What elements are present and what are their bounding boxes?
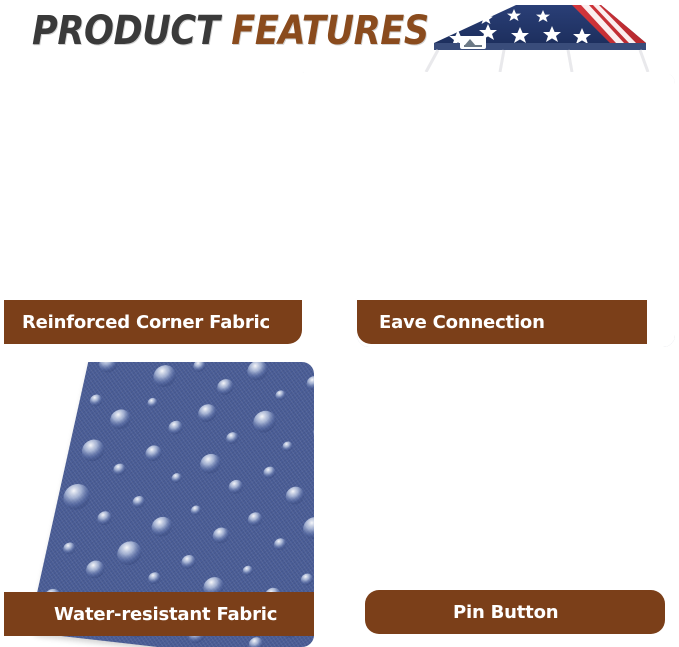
header: PRODUCT FEATURES — [0, 0, 679, 70]
feature-card-reinforced-corner-fabric[interactable]: Reinforced Corner Fabric — [4, 72, 314, 347]
pin-button-photo — [357, 362, 675, 647]
feature-card-pin-button[interactable]: Pin Button — [357, 362, 675, 647]
eave-connection-photo — [357, 72, 675, 347]
product-features-infographic: PRODUCT FEATURES — [0, 0, 679, 647]
feature-card-water-resistant-fabric[interactable]: Water-resistant Fabric — [4, 362, 314, 647]
page-title: PRODUCT FEATURES — [32, 8, 429, 54]
feature-card-eave-connection[interactable]: Eave Connection — [357, 72, 675, 347]
reinforced-corner-photo — [4, 72, 314, 347]
canopy-illustration — [396, 0, 679, 72]
feature-grid: Reinforced Corner Fabric — [0, 72, 679, 647]
water-resistant-photo — [4, 362, 314, 647]
title-part-product: PRODUCT — [32, 8, 219, 54]
hero-canopy-image — [396, 0, 679, 72]
